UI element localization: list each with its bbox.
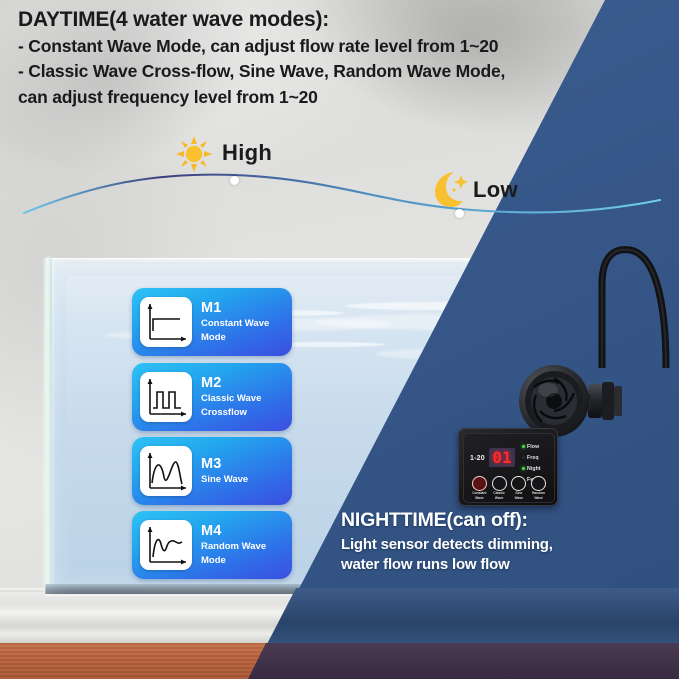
- header-block: DAYTIME(4 water wave modes): - Constant …: [18, 8, 618, 111]
- low-label: Low: [473, 177, 518, 203]
- mode-name-line2: Mode: [201, 555, 266, 566]
- button-label-line2: Wave: [511, 497, 528, 501]
- mode-code: M2: [201, 376, 261, 391]
- button-label-line2: Wave: [491, 497, 508, 501]
- nighttime-caption: NIGHTTIME(can off): Light sensor detects…: [341, 509, 553, 575]
- mode-code: M3: [201, 457, 248, 472]
- mode-card-m2[interactable]: M2 Classic Wave Crossflow: [132, 363, 292, 431]
- mode-name-line1: Sine Wave: [201, 474, 248, 485]
- waveform-icon-random: [140, 520, 192, 570]
- indicator-freq: Freq: [522, 453, 554, 462]
- controller-button-row: Constant Wave Classic Wave Sine Wave Ran…: [471, 476, 547, 501]
- infographic-canvas: DAYTIME(4 water wave modes): - Constant …: [0, 0, 679, 679]
- button-label-line2: Wave: [471, 497, 488, 501]
- waveform-icon-square: [140, 372, 192, 422]
- mode-name-line1: Random Wave: [201, 541, 266, 552]
- curve-point-high: [230, 176, 239, 185]
- nighttime-title: NIGHTTIME(can off):: [341, 509, 553, 532]
- indicator-label-flow: Flow: [527, 444, 539, 450]
- button-circle-icon[interactable]: [531, 476, 546, 491]
- led-dot-flow-icon: [522, 445, 525, 448]
- sun-icon: [176, 136, 212, 172]
- curve-point-low: [455, 209, 464, 218]
- button-random-wave[interactable]: Random Wave: [530, 476, 547, 501]
- button-sine-wave[interactable]: Sine Wave: [511, 476, 528, 501]
- button-circle-icon[interactable]: [511, 476, 526, 491]
- header-line-2: - Classic Wave Cross-flow, Sine Wave, Ra…: [18, 60, 618, 83]
- mode-card-m4[interactable]: M4 Random Wave Mode: [132, 511, 292, 579]
- range-label: 1-20: [470, 455, 485, 462]
- controller-faceplate: 1-20 01 Flow Freq Night: [463, 433, 555, 503]
- moon-icon: [430, 170, 470, 208]
- button-classic-wave[interactable]: Classic Wave: [491, 476, 508, 501]
- waveform-icon-constant: [140, 297, 192, 347]
- indicator-night: Night: [522, 464, 554, 473]
- nighttime-line-1: Light sensor detects dimming,: [341, 535, 553, 554]
- mode-name-line2: Mode: [201, 332, 269, 343]
- indicator-label-freq: Freq: [527, 455, 539, 461]
- daynight-curve: [0, 120, 679, 230]
- led-display-value: 01: [492, 450, 511, 466]
- wavemaker-controller[interactable]: 1-20 01 Flow Freq Night: [458, 428, 558, 506]
- mode-card-m3[interactable]: M3 Sine Wave: [132, 437, 292, 505]
- pump-power-cable: [596, 228, 672, 368]
- mode-card-text: M4 Random Wave Mode: [201, 524, 266, 566]
- indicator-flow: Flow: [522, 442, 554, 451]
- waveform-icon-sine: [140, 446, 192, 496]
- header-line-1: - Constant Wave Mode, can adjust flow ra…: [18, 35, 618, 58]
- mode-card-text: M1 Constant Wave Mode: [201, 301, 269, 343]
- nighttime-line-2: water flow runs low flow: [341, 555, 553, 574]
- high-label: High: [222, 140, 272, 166]
- mode-card-text: M3 Sine Wave: [201, 457, 248, 485]
- button-circle-icon[interactable]: [472, 476, 487, 491]
- indicator-label-night: Night: [527, 466, 541, 472]
- header-line-3: can adjust frequency level from 1~20: [18, 86, 618, 109]
- button-label-line2: Wave: [530, 497, 547, 501]
- mode-name-line2: Crossflow: [201, 407, 261, 418]
- led-dot-night-icon: [522, 467, 525, 470]
- header-title: DAYTIME(4 water wave modes):: [18, 8, 618, 32]
- mode-name-line1: Classic Wave: [201, 393, 261, 404]
- mode-code: M1: [201, 301, 269, 316]
- mode-card-text: M2 Classic Wave Crossflow: [201, 376, 261, 418]
- button-constant-wave[interactable]: Constant Wave: [471, 476, 488, 501]
- mode-name-line1: Constant Wave: [201, 318, 269, 329]
- mode-code: M4: [201, 524, 266, 539]
- mode-card-m1[interactable]: M1 Constant Wave Mode: [132, 288, 292, 356]
- led-dot-freq-icon: [522, 456, 525, 459]
- led-display: 01: [489, 448, 515, 467]
- button-circle-icon[interactable]: [492, 476, 507, 491]
